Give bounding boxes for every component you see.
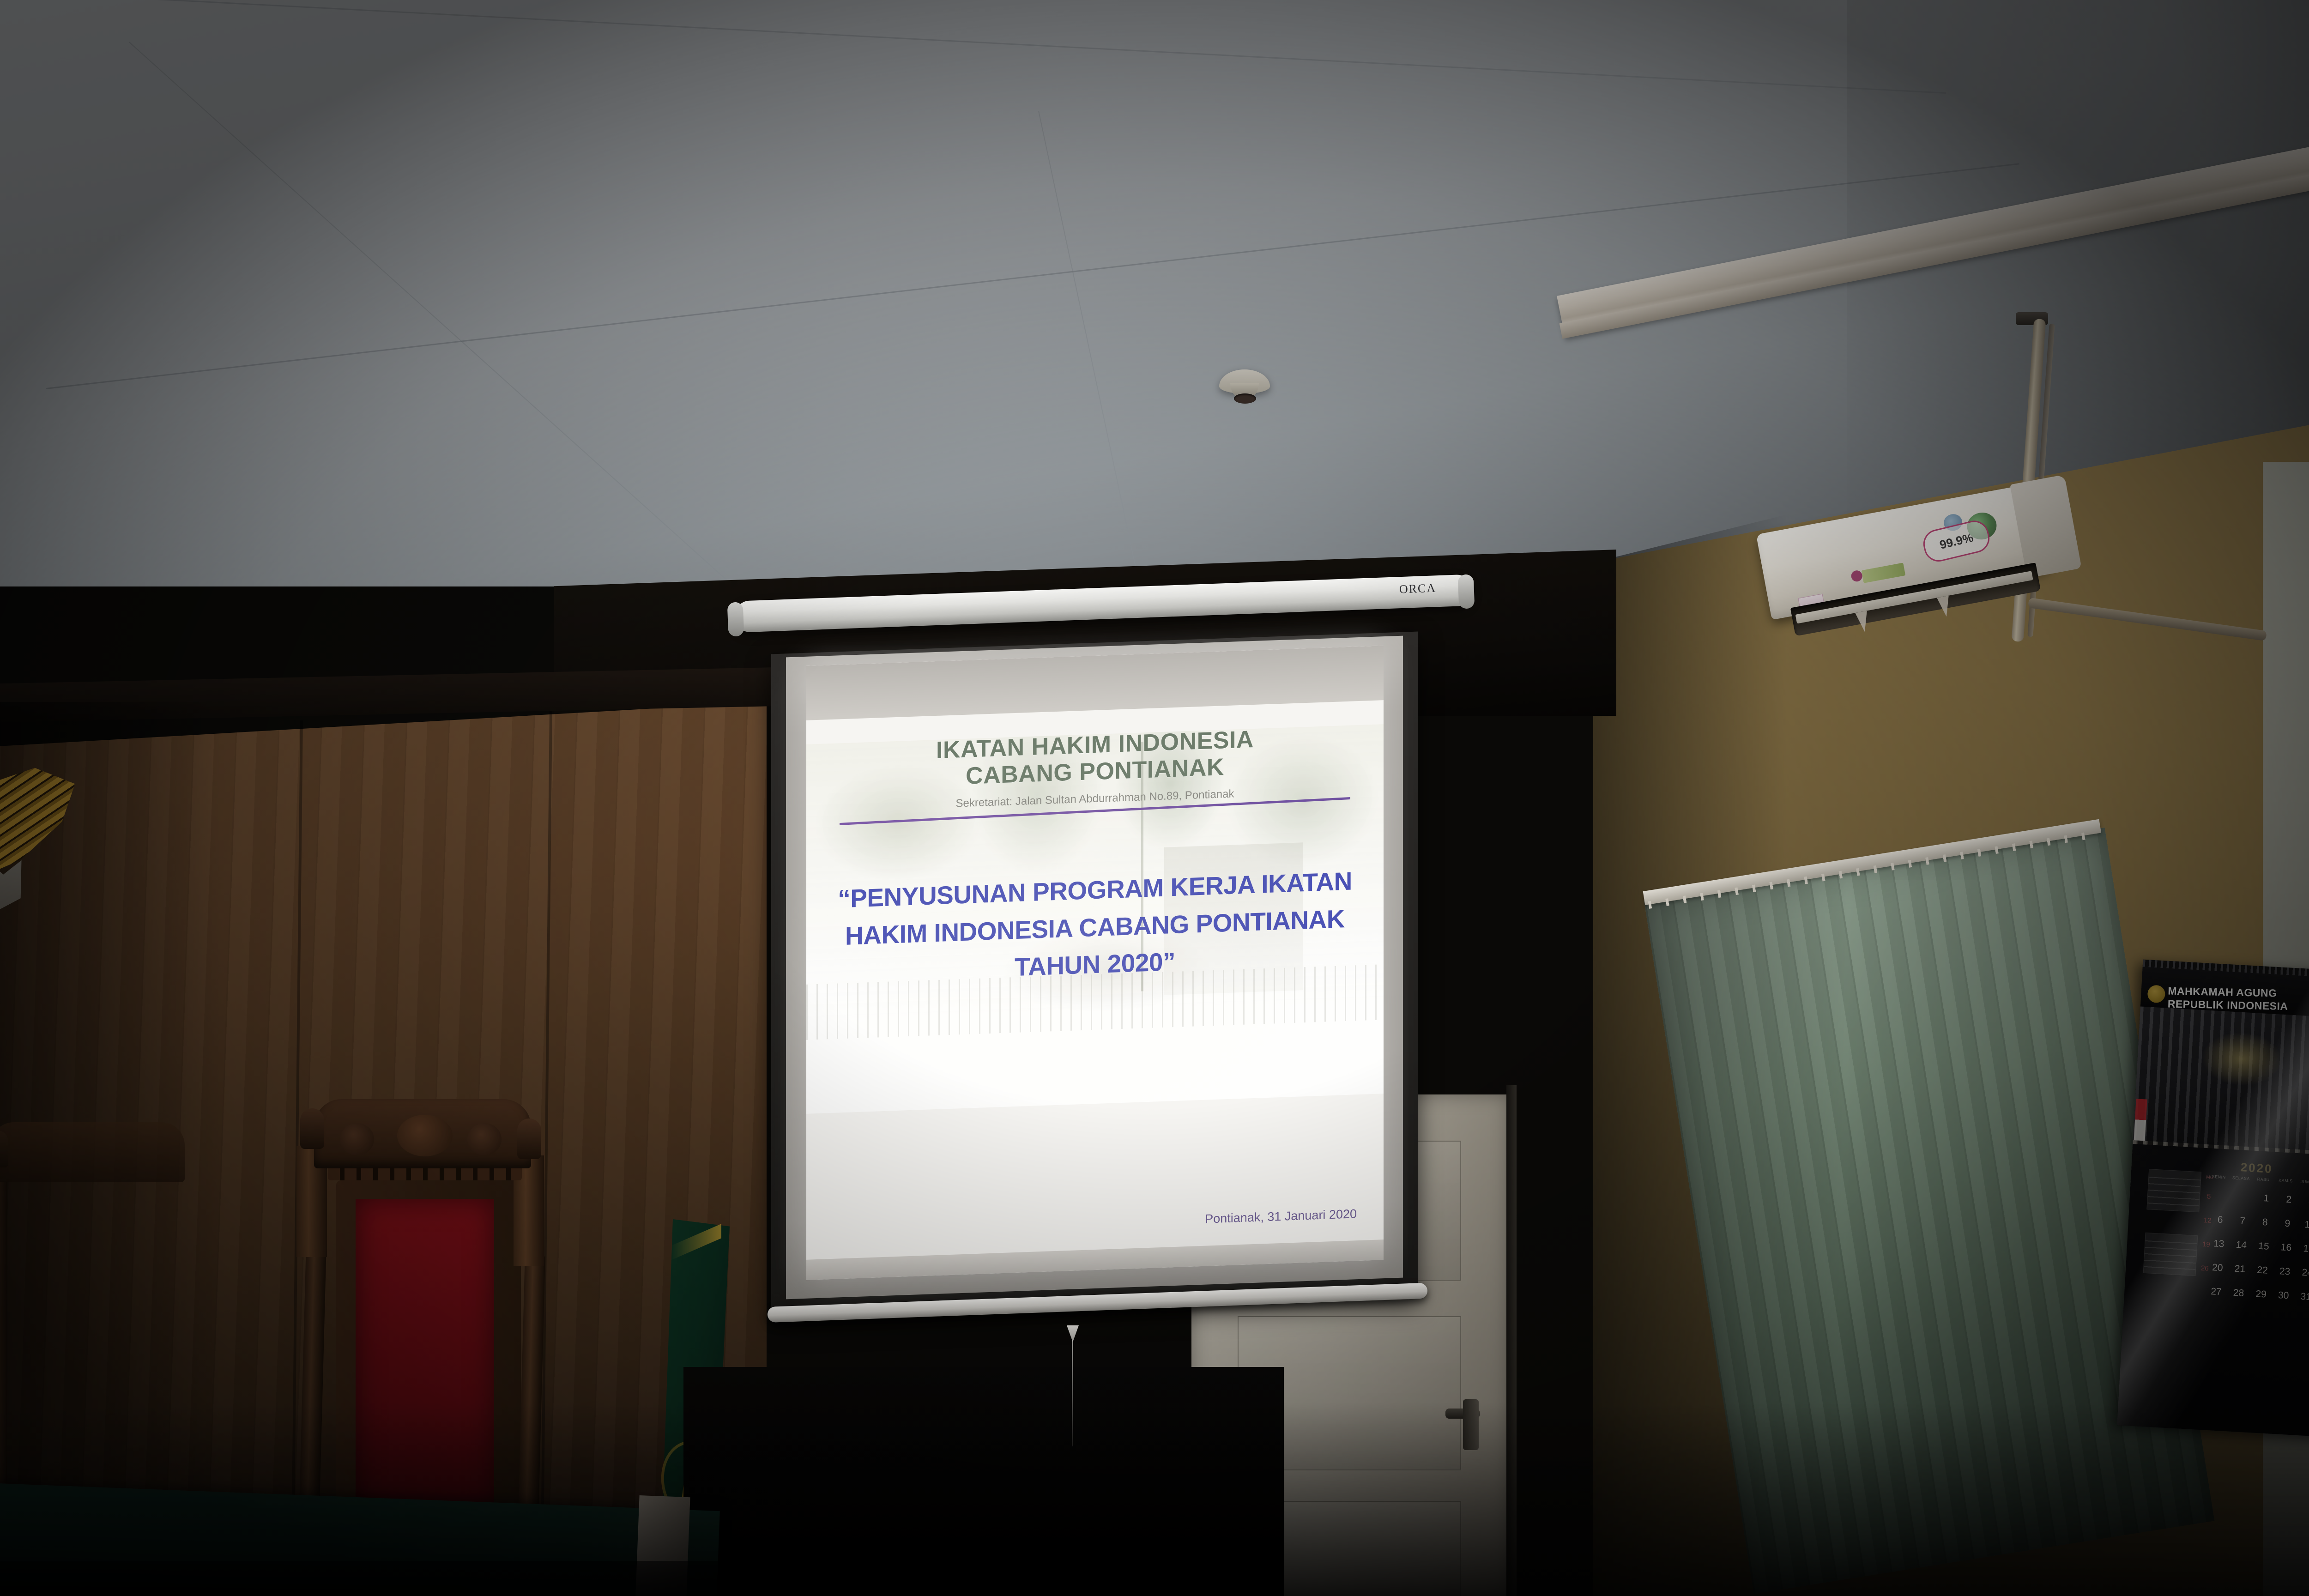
garuda-wing xyxy=(0,761,84,879)
chair-finial xyxy=(517,1118,541,1159)
screen-pull-cord[interactable] xyxy=(1072,1340,1073,1446)
calendar-day: 2 xyxy=(2277,1194,2300,1206)
supreme-court-logo-icon xyxy=(2147,985,2165,1003)
slide-organization: IKATAN HAKIM INDONESIA CABANG PONTIANAK xyxy=(806,721,1384,795)
calendar-mini-rows xyxy=(2147,1177,2200,1212)
calendar-day: 10 xyxy=(2298,1219,2309,1231)
slide-title: “PENYUSUNAN PROGRAM KERJA IKATAN HAKIM I… xyxy=(831,863,1359,992)
calendar-sunday-number: 19 xyxy=(2200,1240,2212,1249)
calendar-day: 7 xyxy=(2231,1215,2254,1227)
calendar-day-header: KAMIS xyxy=(2274,1178,2297,1184)
door-lock-plate[interactable] xyxy=(1463,1399,1479,1450)
calendar-day: 30 xyxy=(2272,1289,2295,1302)
calendar-mini-month xyxy=(2143,1233,2198,1276)
courtroom-scene: 99.9% xyxy=(0,0,2309,1596)
calendar-day: 28 xyxy=(2227,1287,2250,1300)
chair-finial xyxy=(0,1130,8,1167)
calendar-photo xyxy=(2133,1007,2309,1156)
calendar-year: 2020 xyxy=(2240,1160,2273,1176)
calendar-day: 8 xyxy=(2254,1216,2277,1229)
calendar-day: 17 xyxy=(2297,1243,2309,1255)
calendar-day: 21 xyxy=(2228,1263,2251,1276)
slide-content: IKATAN HAKIM INDONESIA CABANG PONTIANAK … xyxy=(806,700,1384,1261)
ceiling-seam xyxy=(0,0,1946,94)
chair-crest-medallion xyxy=(397,1115,453,1156)
calendar-day: 3 xyxy=(2300,1195,2309,1207)
calendar-day: 9 xyxy=(2276,1218,2299,1230)
table-shadow xyxy=(0,1561,757,1596)
calendar-day: 1 xyxy=(2255,1192,2278,1205)
calendar-day xyxy=(2233,1197,2255,1198)
ceiling-fixture-aperture xyxy=(1234,393,1256,404)
screen-roller-end-cap xyxy=(727,602,744,636)
garuda-pancasila-emblem-icon xyxy=(0,767,97,901)
calendar-day-header: JUMAT xyxy=(2297,1179,2309,1185)
chair-crest-scroll xyxy=(340,1123,374,1155)
calendar-day: 22 xyxy=(2251,1264,2274,1277)
calendar-day-header: SELASA xyxy=(2230,1175,2253,1181)
calendar-day: 31 xyxy=(2294,1291,2309,1303)
screen-pull-handle[interactable] xyxy=(1067,1325,1079,1342)
calendar-day: 24 xyxy=(2296,1267,2309,1279)
screen-roller-end-cap xyxy=(1458,574,1475,609)
calendar-day: 29 xyxy=(2249,1288,2273,1301)
chair-crest xyxy=(0,1122,185,1182)
calendar-sunday-header: MG xyxy=(2204,1175,2216,1180)
calendar-sunday-number: 12 xyxy=(2201,1216,2214,1225)
projector-screen[interactable]: IKATAN HAKIM INDONESIA CABANG PONTIANAK … xyxy=(743,600,1570,1385)
calendar-day-numbers: 1234678910111314151617182021222324252728… xyxy=(2204,1184,2309,1311)
calendar-mini-rows xyxy=(2144,1240,2197,1276)
calendar-sunday-number: 5 xyxy=(2203,1192,2215,1201)
calendar-month-grid: 2020 SENINSELASARABUKAMISJUMATSABTU 1234… xyxy=(2117,1144,2309,1437)
screen-brand-label: ORCA xyxy=(1390,581,1445,597)
wall-calendar: MAHKAMAH AGUNG REPUBLIK INDONESIA 2020 S… xyxy=(2117,960,2309,1438)
projected-slide: IKATAN HAKIM INDONESIA CABANG PONTIANAK … xyxy=(806,646,1384,1280)
calendar-day: 14 xyxy=(2230,1239,2253,1251)
calendar-day: 15 xyxy=(2252,1240,2275,1253)
calendar-sunday-number: 26 xyxy=(2199,1264,2211,1272)
calendar-day-header: RABU xyxy=(2252,1177,2275,1183)
chair-crest-scroll xyxy=(467,1123,502,1155)
calendar-mini-month xyxy=(2146,1169,2201,1212)
chair-finial xyxy=(300,1108,324,1149)
dark-foreground-wall xyxy=(683,1367,1284,1596)
calendar-day: 27 xyxy=(2205,1286,2228,1298)
calendar-day: 16 xyxy=(2275,1242,2298,1254)
calendar-photo-flag xyxy=(2134,1099,2147,1141)
calendar-day: 23 xyxy=(2273,1266,2297,1278)
